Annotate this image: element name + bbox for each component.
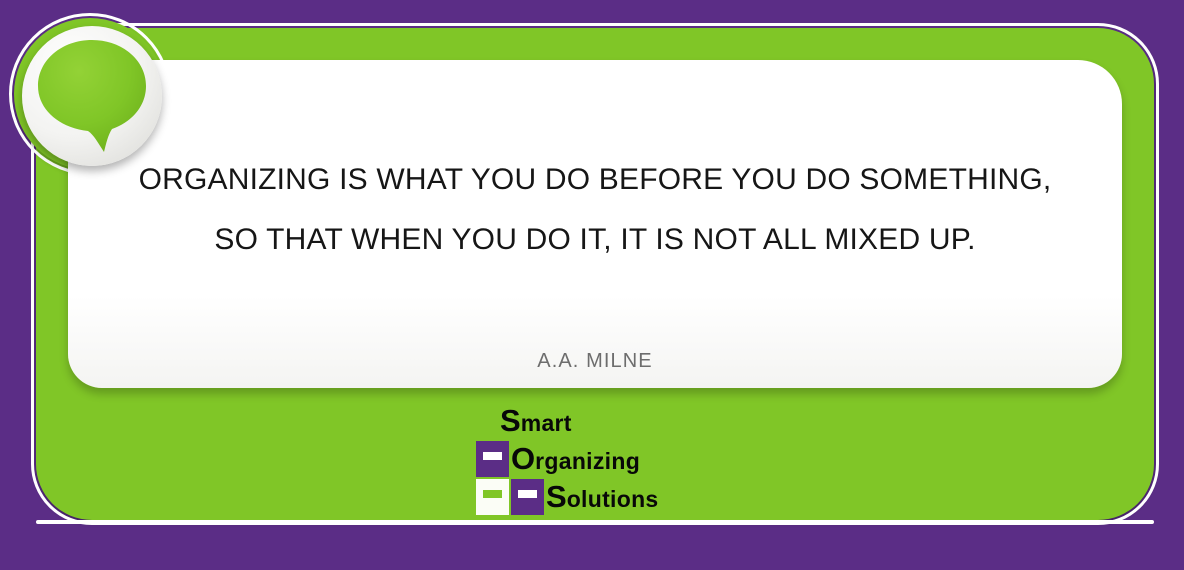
logo-cap-s2: S: [546, 479, 567, 514]
quote-line-2: SO THAT WHEN YOU DO IT, IT IS NOT ALL MI…: [68, 210, 1122, 270]
quote-line-1: ORGANIZING IS WHAT YOU DO BEFORE YOU DO …: [68, 150, 1122, 210]
logo-square-purple-1: [476, 441, 509, 477]
quote-card: ORGANIZING IS WHAT YOU DO BEFORE YOU DO …: [0, 0, 1184, 570]
logo-row-smart: Smart: [500, 402, 572, 440]
quote-author: A.A. MILNE: [68, 350, 1122, 373]
logo-dash-green-1: [483, 490, 502, 498]
footer-divider: [36, 520, 1154, 524]
logo-square-purple-2: [511, 479, 544, 515]
logo-rest-solutions: olutions: [567, 486, 659, 512]
logo-rest-smart: mart: [521, 410, 572, 436]
logo-row-organizing: Organizing: [476, 440, 640, 478]
speech-bubble-medallion: [22, 26, 162, 166]
logo-dash-white-1: [483, 452, 502, 460]
logo-cap-s1: S: [500, 403, 521, 438]
logo-cap-o: O: [511, 441, 535, 476]
speech-bubble-icon: [36, 38, 148, 154]
logo-square-white-1: [476, 479, 509, 515]
brand-logo: Smart Organizing Solutions: [476, 402, 726, 518]
logo-row-solutions: Solutions: [476, 478, 659, 516]
logo-rest-organizing: rganizing: [535, 448, 640, 474]
quote-text: ORGANIZING IS WHAT YOU DO BEFORE YOU DO …: [68, 150, 1122, 270]
logo-dash-white-2: [518, 490, 537, 498]
